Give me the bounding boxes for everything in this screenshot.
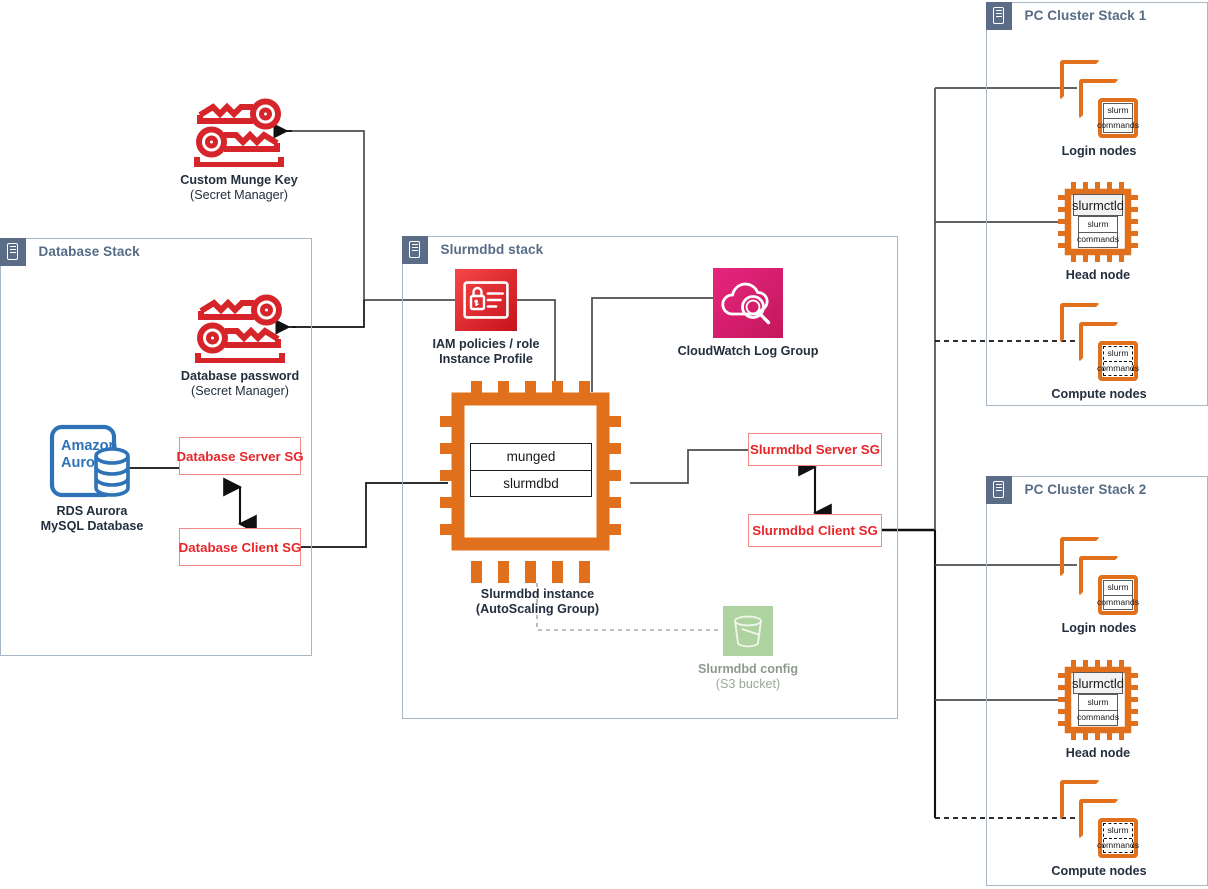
stack-pc-cluster-1-title: PC Cluster Stack 1 — [1012, 8, 1147, 23]
node-database-password-caption: Database password (Secret Manager) — [181, 369, 299, 398]
node-rds-aurora-caption: RDS Aurora MySQL Database — [41, 504, 144, 533]
node-cluster1-compute-nodes[interactable]: slurm commands Compute nodes — [1060, 303, 1138, 402]
node-iam-policies-role[interactable]: IAM policies / role Instance Profile — [424, 269, 548, 366]
architecture-diagram-canvas: Database Stack Slurmdbd stack PC Cluster… — [0, 0, 1208, 889]
node-cluster2-compute-nodes[interactable]: slurm commands Compute nodes — [1060, 780, 1138, 879]
slurm-commands-line2: commands — [1104, 118, 1132, 133]
slurm-commands-line2: commands — [1104, 361, 1132, 376]
node-rds-aurora[interactable]: Amazon Aurora RDS Aurora MySQL Database — [44, 424, 140, 533]
slurm-commands-line2: commands — [1079, 232, 1117, 248]
slurm-commands-box: slurm commands — [1103, 823, 1133, 853]
cloudformation-stack-icon — [986, 476, 1012, 504]
slurm-commands-line2: commands — [1104, 838, 1132, 853]
compute-nodes-icon: slurm commands — [1060, 780, 1138, 858]
node-cloudwatch-log-group-caption: CloudWatch Log Group — [678, 344, 819, 359]
security-group-slurmdbd-server-label: Slurmdbd Server SG — [750, 442, 880, 457]
node-rds-aurora-label: RDS Aurora — [57, 504, 128, 518]
node-database-password[interactable]: Database password (Secret Manager) — [190, 291, 290, 398]
slurmdbd-services-table: munged slurmdbd — [470, 443, 592, 497]
cloudformation-stack-icon — [0, 238, 26, 266]
slurm-commands-line2: commands — [1079, 710, 1117, 726]
node-slurmdbd-config-s3-sublabel: (S3 bucket) — [698, 677, 798, 692]
slurm-commands-box: slurm commands — [1078, 216, 1118, 248]
s3-bucket-icon — [723, 606, 773, 656]
stack-pc-cluster-2-header: PC Cluster Stack 2 — [986, 476, 1147, 504]
node-slurmdbd-instance-sublabel: (AutoScaling Group) — [476, 602, 599, 617]
security-group-slurmdbd-client-label: Slurmdbd Client SG — [752, 523, 878, 538]
node-cluster2-login-nodes-label: Login nodes — [1062, 621, 1137, 636]
slurm-commands-line1: slurm — [1079, 217, 1117, 232]
node-cluster1-head-node-label: Head node — [1066, 268, 1130, 283]
slurm-commands-box: slurm commands — [1103, 346, 1133, 376]
node-custom-munge-key-sublabel: (Secret Manager) — [180, 188, 298, 203]
slurmdbd-service-slurmdbd: slurmdbd — [471, 470, 591, 497]
iam-icon — [455, 269, 517, 331]
node-custom-munge-key[interactable]: Custom Munge Key (Secret Manager) — [189, 95, 289, 202]
slurm-commands-line2: commands — [1104, 595, 1132, 610]
slurm-commands-box: slurm commands — [1078, 694, 1118, 726]
node-cluster2-head-node[interactable]: slurmctld slurm commands Head node — [1058, 660, 1138, 761]
head-node-slurmctld-label: slurmctld — [1073, 672, 1123, 694]
secrets-manager-icon — [189, 95, 289, 167]
node-database-password-sublabel: (Secret Manager) — [181, 384, 299, 399]
stack-database-title: Database Stack — [26, 244, 140, 259]
stack-pc-cluster-2-title: PC Cluster Stack 2 — [1012, 482, 1147, 497]
node-database-password-label: Database password — [181, 369, 299, 383]
security-group-database-client[interactable]: Database Client SG — [179, 528, 301, 566]
slurm-commands-line1: slurm — [1104, 581, 1132, 595]
secrets-manager-icon — [190, 291, 290, 363]
cloudformation-stack-icon — [402, 236, 428, 264]
node-iam-policies-role-caption: IAM policies / role Instance Profile — [432, 337, 539, 366]
node-cluster2-head-node-label: Head node — [1066, 746, 1130, 761]
node-rds-aurora-sublabel: MySQL Database — [41, 519, 144, 534]
security-group-database-server[interactable]: Database Server SG — [179, 437, 301, 475]
slurm-commands-line1: slurm — [1104, 347, 1132, 361]
slurmdbd-service-munged: munged — [471, 444, 591, 470]
node-slurmdbd-config-s3-label: Slurmdbd config — [698, 662, 798, 676]
node-slurmdbd-config-s3-caption: Slurmdbd config (S3 bucket) — [698, 662, 798, 691]
security-group-slurmdbd-client[interactable]: Slurmdbd Client SG — [748, 514, 882, 547]
node-cluster1-login-nodes-label: Login nodes — [1062, 144, 1137, 159]
node-cluster1-head-node[interactable]: slurmctld slurm commands Head node — [1058, 182, 1138, 283]
security-group-slurmdbd-server[interactable]: Slurmdbd Server SG — [748, 433, 882, 466]
stack-slurmdbd-header: Slurmdbd stack — [402, 236, 544, 264]
slurm-commands-line1: slurm — [1104, 104, 1132, 118]
login-nodes-icon: slurm commands — [1060, 537, 1138, 615]
node-custom-munge-key-caption: Custom Munge Key (Secret Manager) — [180, 173, 298, 202]
slurm-commands-line1: slurm — [1079, 695, 1117, 710]
node-custom-munge-key-label: Custom Munge Key — [180, 173, 298, 187]
node-cloudwatch-log-group-label: CloudWatch Log Group — [678, 344, 819, 358]
head-node-slurmctld-label: slurmctld — [1073, 194, 1123, 216]
stack-slurmdbd-title: Slurmdbd stack — [428, 242, 544, 257]
cloudformation-stack-icon — [986, 2, 1012, 30]
ec2-instance-icon: munged slurmdbd — [440, 381, 635, 583]
slurm-commands-box: slurm commands — [1103, 580, 1133, 610]
node-iam-policies-role-label: IAM policies / role — [432, 337, 539, 351]
node-iam-policies-role-sublabel: Instance Profile — [432, 352, 539, 367]
node-cluster2-compute-nodes-label: Compute nodes — [1051, 864, 1146, 879]
node-slurmdbd-instance-caption: Slurmdbd instance (AutoScaling Group) — [476, 587, 599, 616]
head-node-ec2-icon: slurmctld slurm commands — [1058, 660, 1138, 740]
cloudwatch-icon — [713, 268, 783, 338]
node-slurmdbd-config-s3[interactable]: Slurmdbd config (S3 bucket) — [698, 606, 798, 691]
node-cluster1-login-nodes[interactable]: slurm commands Login nodes — [1060, 60, 1138, 159]
stack-pc-cluster-1-header: PC Cluster Stack 1 — [986, 2, 1147, 30]
amazon-aurora-icon: Amazon Aurora — [48, 424, 136, 498]
security-group-database-client-label: Database Client SG — [179, 540, 302, 555]
stack-database-header: Database Stack — [0, 238, 140, 266]
head-node-ec2-icon: slurmctld slurm commands — [1058, 182, 1138, 262]
node-slurmdbd-instance-label: Slurmdbd instance — [481, 587, 594, 601]
node-cluster2-login-nodes[interactable]: slurm commands Login nodes — [1060, 537, 1138, 636]
slurm-commands-box: slurm commands — [1103, 103, 1133, 133]
node-slurmdbd-instance[interactable]: munged slurmdbd Slurmdbd instance (AutoS… — [440, 381, 635, 616]
compute-nodes-icon: slurm commands — [1060, 303, 1138, 381]
slurm-commands-line1: slurm — [1104, 824, 1132, 838]
security-group-database-server-label: Database Server SG — [176, 449, 303, 464]
login-nodes-icon: slurm commands — [1060, 60, 1138, 138]
node-cloudwatch-log-group[interactable]: CloudWatch Log Group — [681, 268, 815, 359]
node-cluster1-compute-nodes-label: Compute nodes — [1051, 387, 1146, 402]
